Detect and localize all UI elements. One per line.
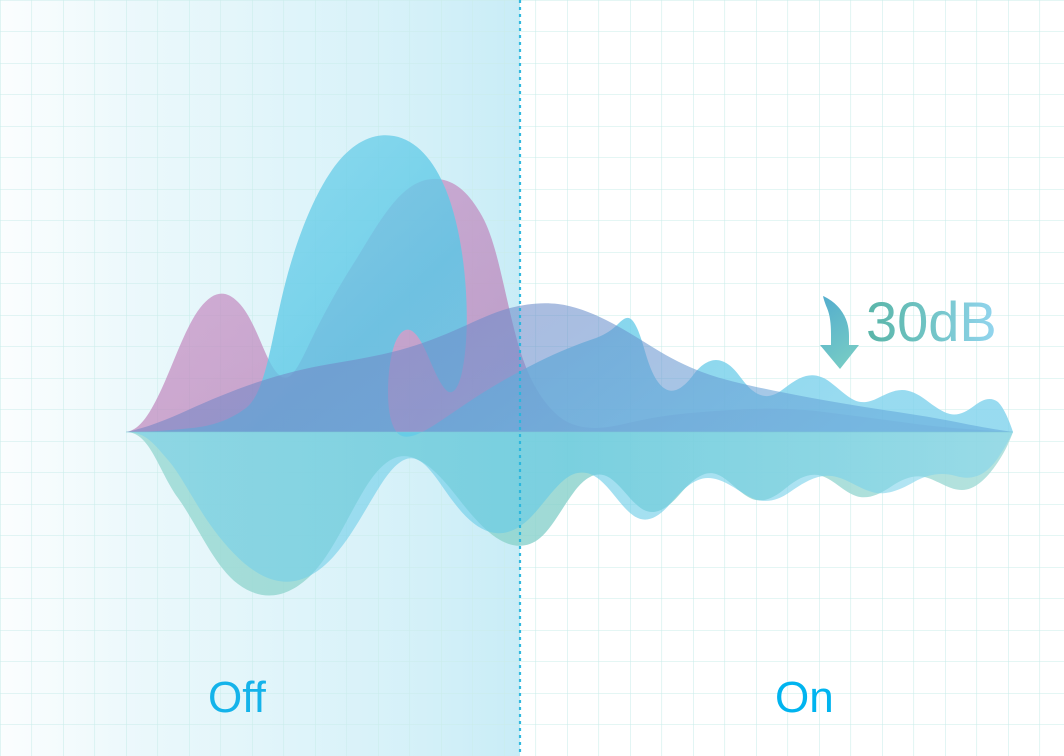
waveform-figure: 30dB Off On <box>0 0 1064 756</box>
label-on: On <box>775 673 834 722</box>
reduction-value: 30dB <box>866 290 997 353</box>
label-off: Off <box>208 673 267 722</box>
waveform-canvas: 30dB Off On <box>0 0 1064 756</box>
